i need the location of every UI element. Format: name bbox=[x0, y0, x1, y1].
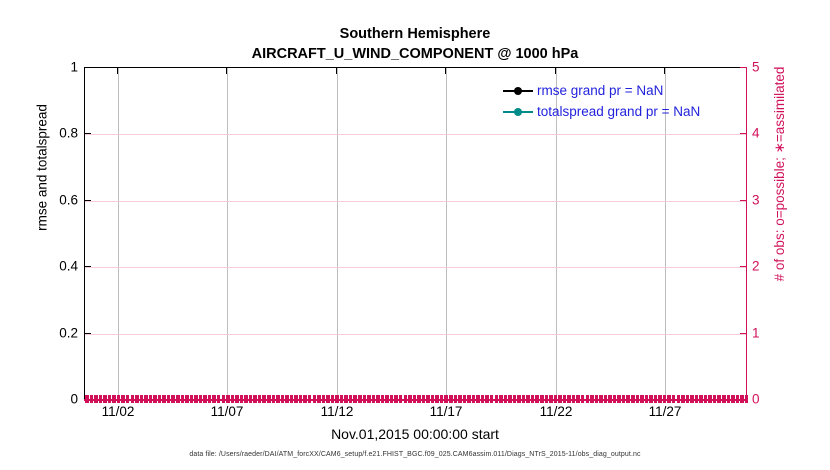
legend-marker-totalspread-icon bbox=[503, 106, 533, 118]
chart-subtitle: AIRCRAFT_U_WIND_COMPONENT @ 1000 hPa bbox=[0, 44, 830, 64]
y-right-tick-label: 1 bbox=[752, 326, 760, 341]
tick-left bbox=[84, 133, 91, 134]
tick-right bbox=[740, 133, 747, 134]
obs-baseline bbox=[84, 399, 748, 401]
x-tick-label: 11/22 bbox=[521, 404, 591, 419]
y-right-tick-label: 4 bbox=[752, 126, 760, 141]
x-tick-label: 11/12 bbox=[302, 404, 372, 419]
x-tick-label: 11/17 bbox=[411, 404, 481, 419]
tick-left bbox=[84, 200, 91, 201]
tick-top bbox=[445, 67, 446, 74]
x-axis-title: Nov.01,2015 00:00:00 start bbox=[0, 426, 830, 442]
x-tick-label: 11/27 bbox=[630, 404, 700, 419]
gridline-vertical bbox=[118, 68, 119, 399]
tick-top bbox=[555, 67, 556, 74]
y-axis-title-left: rmse and totalspread bbox=[35, 18, 50, 318]
legend-marker-rmse-icon bbox=[503, 85, 533, 97]
gridline-vertical bbox=[446, 68, 447, 399]
y-right-tick-label: 3 bbox=[752, 193, 760, 208]
y-right-tick-label: 0 bbox=[752, 392, 760, 407]
gridline-horizontal bbox=[85, 334, 746, 335]
tick-left bbox=[84, 266, 91, 267]
tick-top bbox=[226, 67, 227, 74]
y-left-tick-label: 0 bbox=[38, 392, 78, 407]
gridline-horizontal bbox=[85, 134, 746, 135]
tick-top bbox=[664, 67, 665, 74]
x-tick-label: 11/07 bbox=[192, 404, 262, 419]
tick-right bbox=[740, 333, 747, 334]
legend-item-rmse[interactable]: rmse grand pr = NaN bbox=[503, 80, 743, 101]
gridline-vertical bbox=[227, 68, 228, 399]
x-tick-label: 11/02 bbox=[83, 404, 153, 419]
page-title: Southern Hemisphere bbox=[0, 24, 830, 44]
chart-title-block: Southern Hemisphere AIRCRAFT_U_WIND_COMP… bbox=[0, 24, 830, 64]
legend-item-totalspread[interactable]: totalspread grand pr = NaN bbox=[503, 101, 743, 122]
gridline-horizontal bbox=[85, 267, 746, 268]
chart-figure: Southern Hemisphere AIRCRAFT_U_WIND_COMP… bbox=[0, 0, 830, 470]
legend-label-totalspread: totalspread grand pr = NaN bbox=[537, 104, 700, 119]
tick-right bbox=[740, 67, 747, 68]
y-right-tick-label: 5 bbox=[752, 60, 760, 75]
tick-left bbox=[84, 67, 91, 68]
gridline-vertical bbox=[337, 68, 338, 399]
tick-left bbox=[84, 333, 91, 334]
y-left-tick-label: 0.2 bbox=[38, 326, 78, 341]
tick-right bbox=[740, 266, 747, 267]
y-right-tick-label: 2 bbox=[752, 259, 760, 274]
tick-top bbox=[117, 67, 118, 74]
tick-right bbox=[740, 200, 747, 201]
legend-label-rmse: rmse grand pr = NaN bbox=[537, 83, 663, 98]
gridline-horizontal bbox=[85, 201, 746, 202]
y-axis-title-right: # of obs: o=possible; ∗=assimilated bbox=[772, 24, 788, 324]
tick-top bbox=[336, 67, 337, 74]
chart-legend: rmse grand pr = NaN totalspread grand pr… bbox=[503, 80, 743, 122]
data-file-path: data file: /Users/raeder/DAI/ATM_forcXX/… bbox=[0, 451, 830, 458]
